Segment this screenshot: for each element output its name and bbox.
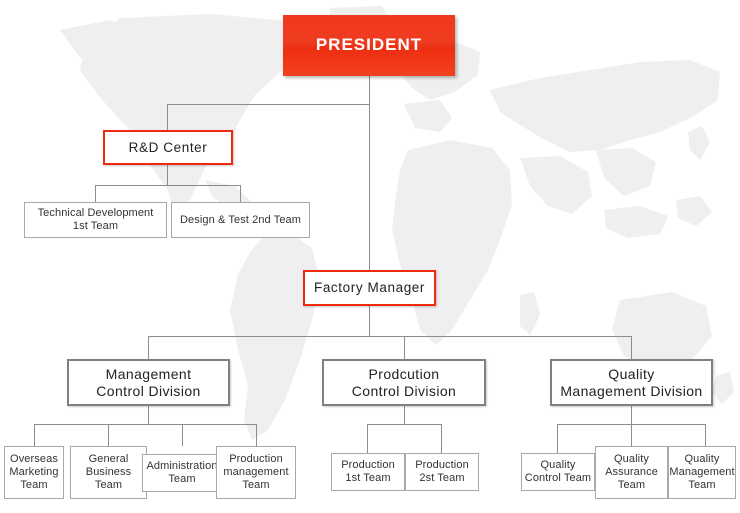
connector-mgmt-children-bar [34, 424, 256, 425]
node-general-business-team-label: General Business Team [86, 453, 131, 492]
node-president-label: PRESIDENT [316, 35, 422, 55]
node-quality-management-team[interactable]: Quality Management Team [668, 446, 736, 499]
node-overseas-marketing-team-label: Overseas Marketing Team [9, 453, 58, 492]
node-production-control-division[interactable]: Prodcution Control Division [322, 359, 486, 406]
node-quality-management-team-label: Quality Management Team [669, 453, 734, 492]
connector-qual-down [631, 406, 632, 424]
node-quality-management-division[interactable]: Quality Management Division [550, 359, 713, 406]
connector-prod1-drop [367, 424, 368, 453]
node-president[interactable]: PRESIDENT [283, 15, 455, 76]
connector-qm-drop [705, 424, 706, 446]
node-quality-assurance-team[interactable]: Quality Assurance Team [595, 446, 668, 499]
connector-prod-children-bar [367, 424, 441, 425]
node-technical-development-1st-team-label: Technical Development 1st Team [38, 207, 154, 233]
node-rnd-center-label: R&D Center [129, 140, 208, 156]
node-production-management-team-label: Production management Team [223, 453, 288, 492]
connector-mgmt-down [148, 406, 149, 424]
connector-divisions-bar [148, 336, 631, 337]
connector-mgmt-div-drop [148, 336, 149, 359]
node-quality-management-division-label: Quality Management Division [560, 366, 702, 399]
connector-admin-drop [182, 424, 183, 446]
connector-tech-dev-drop [95, 185, 96, 202]
org-chart: PRESIDENT R&D Center Technical Developme… [0, 0, 740, 513]
node-quality-control-team-label: Quality Control Team [525, 459, 591, 485]
node-production-2st-team[interactable]: Production 2st Team [405, 453, 479, 491]
connector-rnd-drop [167, 104, 168, 130]
node-factory-manager[interactable]: Factory Manager [303, 270, 436, 306]
node-production-control-division-label: Prodcution Control Division [352, 366, 456, 399]
connector-qc-drop [557, 424, 558, 453]
node-technical-development-1st-team[interactable]: Technical Development 1st Team [24, 202, 167, 238]
node-production-1st-team-label: Production 1st Team [341, 459, 395, 485]
node-administration-team-label: Administration Team [146, 460, 217, 486]
connector-overseas-drop [34, 424, 35, 446]
node-general-business-team[interactable]: General Business Team [70, 446, 147, 499]
connector-rnd-down [167, 165, 168, 185]
node-quality-assurance-team-label: Quality Assurance Team [605, 453, 658, 492]
connector-design-test-drop [240, 185, 241, 202]
node-management-control-division-label: Management Control Division [96, 366, 200, 399]
node-production-1st-team[interactable]: Production 1st Team [331, 453, 405, 491]
world-map-watermark [0, 0, 740, 513]
node-quality-control-team[interactable]: Quality Control Team [521, 453, 595, 491]
node-administration-team[interactable]: Administration Team [142, 454, 222, 492]
connector-president-trunk [369, 76, 370, 290]
node-factory-manager-label: Factory Manager [314, 280, 425, 296]
node-management-control-division[interactable]: Management Control Division [67, 359, 230, 406]
node-production-management-team[interactable]: Production management Team [216, 446, 296, 499]
node-overseas-marketing-team[interactable]: Overseas Marketing Team [4, 446, 64, 499]
connector-prod-down [404, 406, 405, 424]
node-design-test-2nd-team[interactable]: Design & Test 2nd Team [171, 202, 310, 238]
connector-qa-drop [631, 424, 632, 446]
connector-rnd-children-bar [95, 185, 240, 186]
node-rnd-center[interactable]: R&D Center [103, 130, 233, 165]
connector-qual-div-drop [631, 336, 632, 359]
connector-prodmgmt-drop [256, 424, 257, 446]
connector-general-drop [108, 424, 109, 446]
node-design-test-2nd-team-label: Design & Test 2nd Team [180, 214, 301, 227]
connector-prod2-drop [441, 424, 442, 453]
node-production-2st-team-label: Production 2st Team [415, 459, 469, 485]
connector-president-to-rnd [167, 104, 370, 105]
connector-prod-div-drop [404, 336, 405, 359]
connector-factory-down [369, 306, 370, 336]
